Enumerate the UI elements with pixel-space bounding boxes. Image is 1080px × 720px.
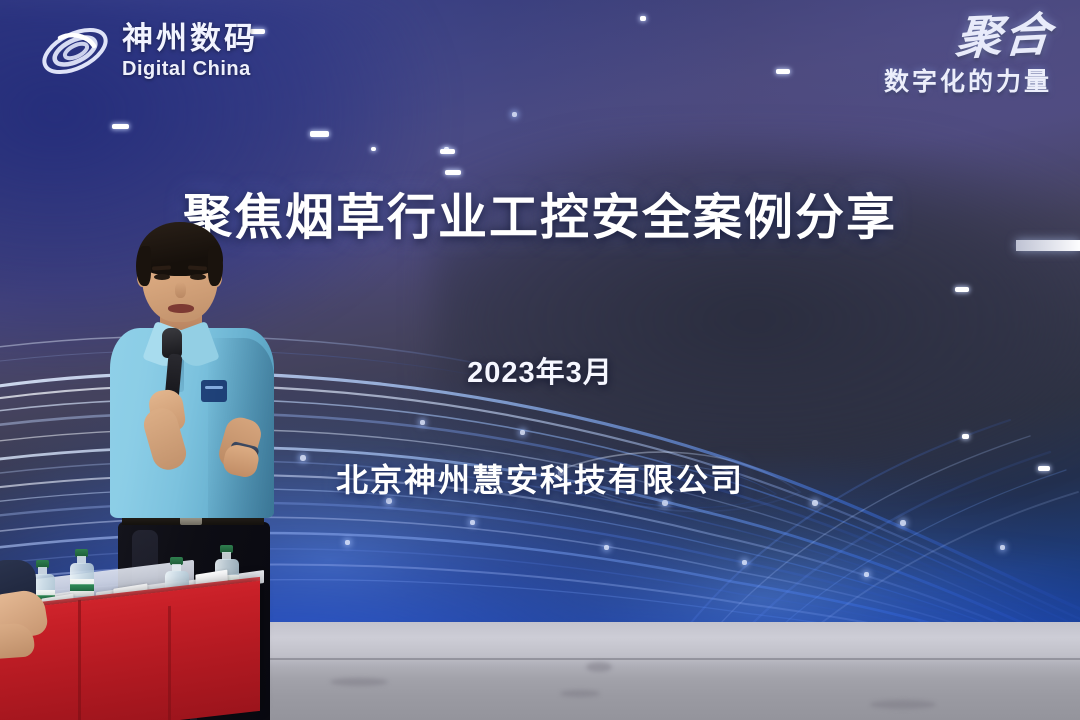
campaign-calligraphy: 聚合 bbox=[954, 12, 1054, 62]
brand-text-block: 神州数码 Digital China bbox=[122, 23, 258, 79]
particle-dot bbox=[962, 434, 969, 439]
brand-name-cn: 神州数码 bbox=[122, 23, 258, 54]
particle-dot bbox=[776, 69, 790, 74]
particle-dot bbox=[1000, 545, 1005, 550]
floor-scuff bbox=[870, 700, 936, 709]
particle-dot bbox=[900, 520, 906, 526]
presenter-eye bbox=[190, 274, 206, 280]
particle-dot bbox=[371, 147, 376, 151]
floor-scuff bbox=[330, 678, 388, 686]
particle-dot bbox=[864, 572, 869, 577]
screen-edge-light-bar bbox=[1016, 240, 1080, 251]
particle-dot bbox=[955, 287, 969, 292]
shirt-chest-logo-icon bbox=[201, 380, 227, 402]
campaign-block: 聚合 数字化的力量 bbox=[884, 14, 1052, 98]
tablecloth-fold bbox=[78, 600, 81, 720]
particle-dot bbox=[512, 112, 517, 117]
campaign-tagline: 数字化的力量 bbox=[884, 62, 1052, 98]
particle-dot bbox=[470, 520, 475, 525]
presenter-hair-side bbox=[136, 246, 151, 286]
digital-china-swirl-icon bbox=[38, 20, 112, 82]
bottle-label bbox=[70, 579, 94, 596]
particle-dot bbox=[640, 16, 646, 21]
presenter-nose bbox=[175, 282, 186, 298]
presenter-mouth bbox=[168, 304, 194, 313]
particle-dot bbox=[742, 560, 747, 565]
floor-scuff bbox=[560, 690, 600, 697]
particle-dot bbox=[604, 545, 609, 550]
particle-dot bbox=[345, 540, 350, 545]
particle-dot bbox=[445, 170, 461, 175]
presenter-hair-side bbox=[208, 246, 223, 286]
particle-dot bbox=[112, 124, 129, 129]
particle-dot bbox=[420, 420, 425, 425]
particle-dot bbox=[520, 430, 525, 435]
presenter-eye bbox=[154, 274, 170, 280]
digital-china-logo: 神州数码 Digital China bbox=[38, 20, 258, 82]
screenshot-root: 神州数码 Digital China 聚合 数字化的力量 聚焦烟草行业工控安全案… bbox=[0, 0, 1080, 720]
brand-name-en: Digital China bbox=[122, 59, 258, 79]
particle-dot bbox=[310, 131, 329, 137]
floor-scuff bbox=[586, 662, 612, 672]
tablecloth-fold bbox=[168, 606, 171, 720]
particle-dot bbox=[440, 149, 455, 154]
